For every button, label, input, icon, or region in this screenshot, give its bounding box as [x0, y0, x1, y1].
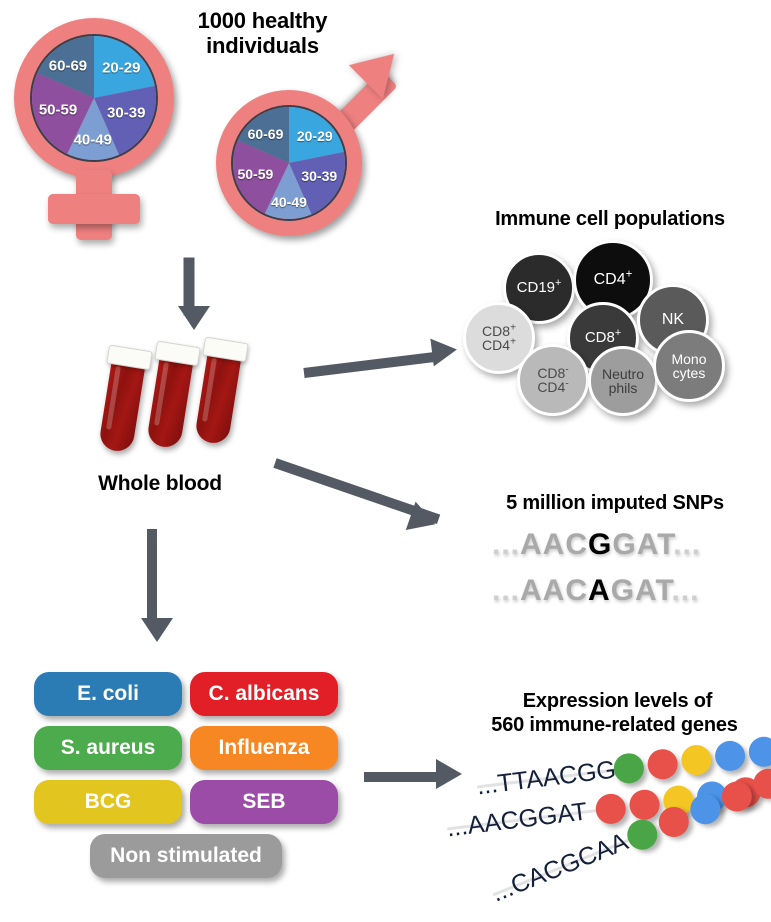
stimuli-group: E. coli C. albicans S. aureus Influenza …: [30, 672, 350, 892]
pie-label-50-59: 50-59: [237, 166, 273, 182]
snp-after: GAT: [612, 528, 673, 561]
immune-cell-label: Neutrophils: [602, 367, 644, 396]
stimulus-label: Non stimulated: [110, 844, 262, 868]
snp-variant-base: G: [588, 528, 612, 561]
stimulus-c-albicans[interactable]: C. albicans: [190, 672, 338, 716]
snp-row: ...AACAGAT...: [492, 574, 699, 608]
strand-bead: [612, 752, 645, 785]
female-age-pie: 20-29 30-39 40-49 50-59 60-69: [30, 34, 158, 162]
blood-tube: [146, 341, 196, 449]
snp-variant-base: A: [588, 574, 611, 607]
snp-row: ...AACGGAT...: [492, 528, 701, 562]
immune-cell-label: CD8-CD4-: [537, 366, 568, 395]
snp-suffix: ...: [673, 528, 701, 561]
immune-cell-label: CD19+: [517, 280, 562, 295]
strand-sequence: ...AACGGAT: [445, 797, 589, 843]
stimulus-s-aureus[interactable]: S. aureus: [34, 726, 182, 770]
stimulus-label: C. albicans: [209, 682, 320, 706]
snp-before: AAC: [520, 574, 588, 607]
stimulus-bcg[interactable]: BCG: [34, 780, 182, 824]
strand-bead: [747, 735, 771, 768]
expression-strands: ...TTAACGG ...AACGGAT ...CACGCAA: [455, 740, 771, 915]
strand-bead: [646, 747, 679, 780]
strand-bead: [686, 790, 725, 829]
stimulus-label: BCG: [85, 790, 132, 814]
female-symbol: 20-29 30-39 40-49 50-59 60-69: [8, 12, 188, 242]
snp-prefix: ...: [492, 528, 520, 561]
immune-cell-cd8n-cd4n: CD8-CD4-: [517, 344, 589, 416]
immune-cell-label: CD4+: [594, 272, 633, 288]
stimulus-label: Influenza: [218, 736, 309, 760]
strand-bead: [713, 739, 746, 772]
immune-cell-cluster: CD19+ CD4+ CD8+CD4+ CD8+ NK CD8-CD4- Neu…: [455, 240, 765, 415]
expression-heading-line1: Expression levels of: [470, 690, 765, 713]
stimulus-label: S. aureus: [61, 736, 156, 760]
male-arrow-head: [349, 37, 411, 99]
whole-blood-group: [110, 338, 310, 468]
pie-label-60-69: 60-69: [49, 57, 87, 74]
immune-cell-neutrophils: Neutrophils: [588, 346, 658, 416]
snps-heading: 5 million imputed SNPs: [465, 492, 765, 515]
expression-heading-line2: 560 immune-related genes: [462, 714, 767, 737]
strand-bead: [680, 743, 713, 776]
pie-label-30-39: 30-39: [107, 104, 145, 121]
pie-label-20-29: 20-29: [297, 128, 333, 144]
pie-label-30-39: 30-39: [301, 168, 337, 184]
snp-before: AAC: [520, 528, 588, 561]
pie-label-40-49: 40-49: [271, 194, 307, 210]
male-symbol: 20-29 30-39 40-49 50-59 60-69: [208, 50, 418, 240]
snp-prefix: ...: [492, 574, 520, 607]
strand-bead: [654, 802, 693, 841]
pie-label-40-49: 40-49: [74, 132, 112, 149]
pie-label-50-59: 50-59: [39, 102, 77, 119]
stimulus-label: E. coli: [77, 682, 139, 706]
immune-cell-label: CD8+CD4+: [482, 324, 516, 353]
blood-tube: [98, 345, 148, 453]
pie-label-20-29: 20-29: [102, 60, 140, 77]
snp-sequences: ...AACGGAT... ...AACAGAT...: [470, 528, 760, 618]
whole-blood-label: Whole blood: [60, 472, 260, 496]
immune-cell-label: NK: [662, 312, 684, 328]
stimulus-label: SEB: [242, 790, 285, 814]
snp-suffix: ...: [671, 574, 699, 607]
strand-bead: [717, 777, 756, 816]
stimulus-influenza[interactable]: Influenza: [190, 726, 338, 770]
stimulus-non-stimulated[interactable]: Non stimulated: [90, 834, 282, 878]
blood-tube: [194, 337, 244, 445]
snp-after: GAT: [611, 574, 672, 607]
stimulus-e-coli[interactable]: E. coli: [34, 672, 182, 716]
immune-heading: Immune cell populations: [455, 208, 765, 231]
female-stem-horizontal: [48, 194, 140, 224]
immune-cell-monocytes: Monocytes: [653, 330, 725, 402]
immune-cell-label: Monocytes: [671, 352, 706, 381]
strand-bead: [594, 792, 627, 825]
male-age-pie: 20-29 30-39 40-49 50-59 60-69: [231, 105, 347, 221]
immune-cell-label: CD8+: [585, 330, 621, 345]
pie-label-60-69: 60-69: [248, 126, 284, 142]
strand-sequence: ...CACGCAA: [488, 827, 633, 908]
stimulus-seb[interactable]: SEB: [190, 780, 338, 824]
